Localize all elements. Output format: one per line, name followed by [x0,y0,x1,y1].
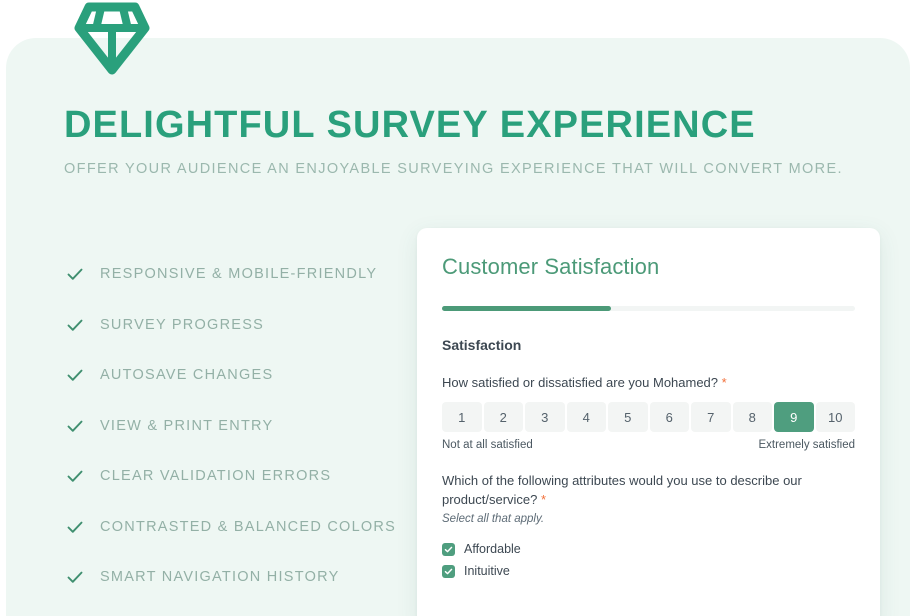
checkbox-label: Inituitive [464,564,510,578]
feature-label: CONTRASTED & BALANCED COLORS [100,519,396,535]
rating-option-2[interactable]: 2 [484,402,524,432]
rating-question-text: How satisfied or dissatisfied are you Mo… [442,375,718,390]
check-icon [66,366,84,384]
rating-option-1[interactable]: 1 [442,402,482,432]
rating-question-label: How satisfied or dissatisfied are you Mo… [442,373,855,392]
feature-label: AUTOSAVE CHANGES [100,367,273,383]
page-subtitle: OFFER YOUR AUDIENCE AN ENJOYABLE SURVEYI… [64,161,843,177]
feature-list: RESPONSIVE & MOBILE-FRIENDLY SURVEY PROG… [66,249,406,603]
feature-label: CLEAR VALIDATION ERRORS [100,468,331,484]
feature-label: RESPONSIVE & MOBILE-FRIENDLY [100,266,377,282]
list-item: VIEW & PRINT ENTRY [66,401,406,452]
page-root: DELIGHTFUL SURVEY EXPERIENCE OFFER YOUR … [0,0,916,616]
survey-title: Customer Satisfaction [442,254,855,280]
feature-label: SMART NAVIGATION HISTORY [100,569,340,585]
rating-option-4[interactable]: 4 [567,402,607,432]
checkbox-checked-icon[interactable] [442,565,455,578]
required-asterisk: * [722,375,727,390]
survey-card: Customer Satisfaction Satisfaction How s… [417,228,880,616]
required-asterisk: * [541,492,546,507]
attributes-question-label: Which of the following attributes would … [442,471,855,509]
rating-option-3[interactable]: 3 [525,402,565,432]
rating-scale: 1 2 3 4 5 6 7 8 9 10 [442,402,855,432]
rating-option-6[interactable]: 6 [650,402,690,432]
checkbox-checked-icon[interactable] [442,543,455,556]
attributes-question-text: Which of the following attributes would … [442,473,802,507]
rating-option-8[interactable]: 8 [733,402,773,432]
feature-label: SURVEY PROGRESS [100,317,264,333]
list-item: AUTOSAVE CHANGES [66,350,406,401]
check-icon [66,518,84,536]
attributes-question-hint: Select all that apply. [442,513,855,525]
check-icon [66,265,84,283]
list-item: CLEAR VALIDATION ERRORS [66,451,406,502]
check-icon [66,417,84,435]
section-title: Satisfaction [442,337,855,353]
page-title: DELIGHTFUL SURVEY EXPERIENCE [64,104,756,147]
rating-scale-labels: Not at all satisfied Extremely satisfied [442,439,855,451]
list-item: RESPONSIVE & MOBILE-FRIENDLY [66,249,406,300]
checkbox-row-inituitive[interactable]: Inituitive [442,560,855,582]
checkbox-label: Affordable [464,542,521,556]
list-item: SMART NAVIGATION HISTORY [66,552,406,603]
rating-option-7[interactable]: 7 [691,402,731,432]
attributes-options: Affordable Inituitive [442,538,855,582]
survey-progress-fill [442,306,611,311]
rating-high-label: Extremely satisfied [758,439,855,451]
rating-low-label: Not at all satisfied [442,439,533,451]
rating-option-5[interactable]: 5 [608,402,648,432]
checkbox-row-affordable[interactable]: Affordable [442,538,855,560]
check-icon [66,568,84,586]
diamond-icon [74,2,150,76]
feature-label: VIEW & PRINT ENTRY [100,418,273,434]
check-icon [66,467,84,485]
check-icon [66,316,84,334]
rating-option-10[interactable]: 10 [816,402,856,432]
survey-progress-bar [442,306,855,311]
list-item: SURVEY PROGRESS [66,300,406,351]
rating-option-9[interactable]: 9 [774,402,814,432]
list-item: CONTRASTED & BALANCED COLORS [66,502,406,553]
